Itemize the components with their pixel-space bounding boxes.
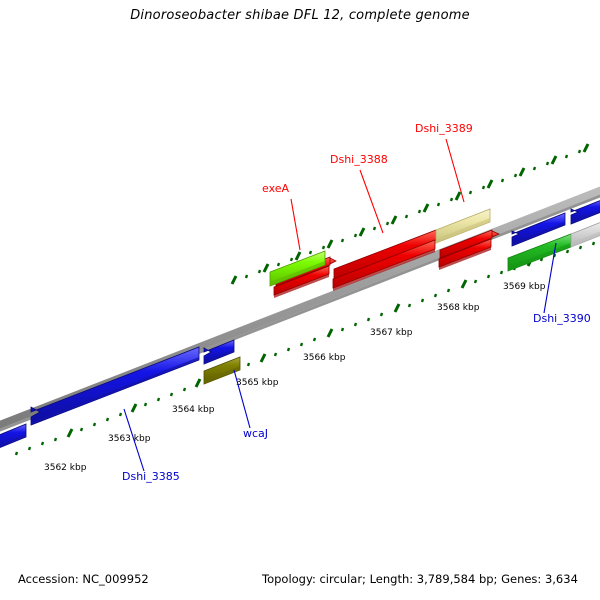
label-leader-lines <box>124 139 556 471</box>
ruler-tick-label: 3566 kbp <box>303 353 346 363</box>
ruler-tick-label: 3568 kbp <box>437 303 480 313</box>
genome-map-canvas: 3562 kbp3563 kbp3564 kbp3565 kbp3566 kbp… <box>0 0 600 600</box>
gene-label-Dshi_3388[interactable]: Dshi_3388 <box>330 153 388 166</box>
genome-viewer: Dinoroseobacter shibae DFL 12, complete … <box>0 0 600 600</box>
ruler-tick-label: 3567 kbp <box>370 328 413 338</box>
ruler-tick-label: 3569 kbp <box>503 282 546 292</box>
gene-domain-right-grey[interactable] <box>571 221 600 247</box>
gene-label-Dshi_3385[interactable]: Dshi_3385 <box>122 470 180 483</box>
accession-text: Accession: NC_009952 <box>18 572 149 586</box>
ruler-tick-label: 3565 kbp <box>236 378 279 388</box>
genome-stats-text: Topology: circular; Length: 3,789,584 bp… <box>262 572 578 586</box>
ruler-tick-label: 3563 kbp <box>108 434 151 444</box>
gene-label-Dshi_3389[interactable]: Dshi_3389 <box>415 122 473 135</box>
gene-label-exeA[interactable]: exeA <box>262 182 290 195</box>
ruler-tick-label: 3562 kbp <box>44 463 87 473</box>
gene-label-Dshi_3390[interactable]: Dshi_3390 <box>533 312 591 325</box>
gene-label-wcaJ[interactable]: wcaJ <box>243 427 268 440</box>
ruler-tick-label: 3564 kbp <box>172 405 215 415</box>
